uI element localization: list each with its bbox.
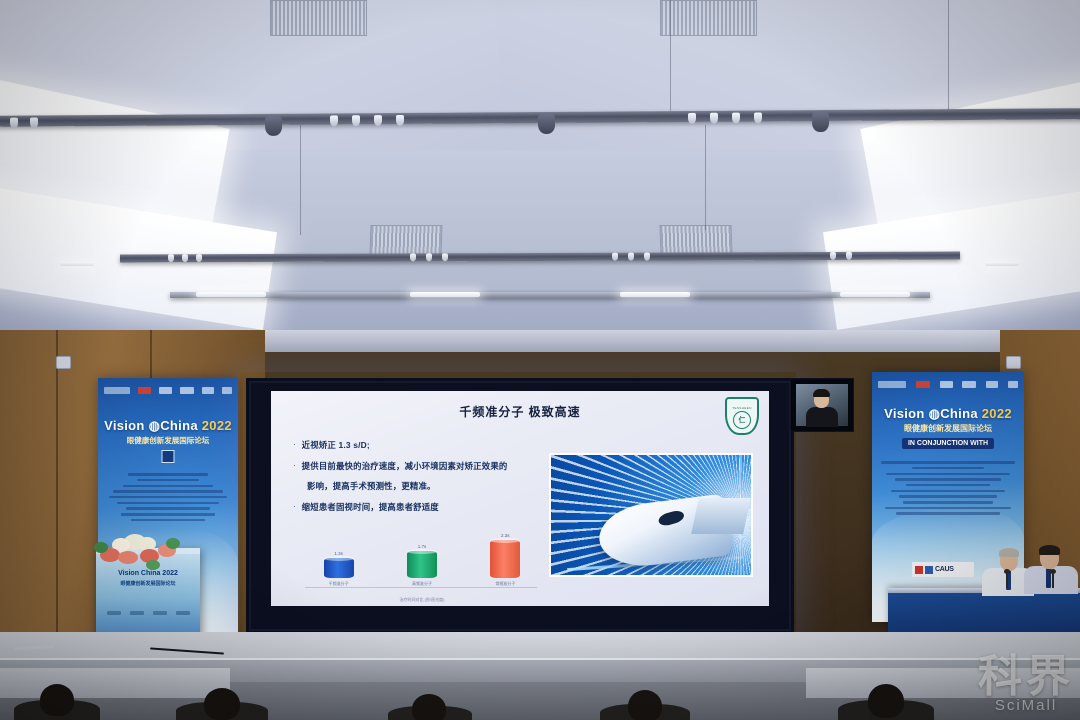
ceiling-light-strip bbox=[410, 292, 480, 297]
bullet-text: 影响，提高手术预测性，更精准。 bbox=[307, 480, 436, 494]
video-frame bbox=[796, 384, 848, 426]
spotlight-icon bbox=[644, 253, 650, 261]
ceiling-vent-icon bbox=[270, 0, 367, 36]
spotlight-icon bbox=[612, 253, 618, 261]
spotlight-icon bbox=[732, 113, 740, 124]
presentation-slide: 千频准分子 极致高速 TENSHEEN 仁 · 近视矫正 1.3 s/D; · … bbox=[271, 391, 769, 606]
ceiling-light-strip bbox=[60, 262, 94, 266]
ceiling-vent-icon bbox=[369, 225, 442, 255]
bar-group: 2.3s 常规准分子 bbox=[484, 533, 526, 587]
event-line bbox=[131, 519, 205, 522]
event-line bbox=[912, 467, 985, 470]
remote-speaker-feed[interactable] bbox=[790, 378, 854, 432]
chart-baseline bbox=[305, 587, 537, 588]
spotlight-icon bbox=[182, 254, 188, 262]
microphone-icon bbox=[1006, 572, 1008, 588]
sponsor-logo bbox=[1008, 381, 1018, 388]
banner-sponsor-logo-row bbox=[104, 383, 232, 397]
banner-right-brand: Vision ◍China 2022 bbox=[872, 406, 1024, 422]
podium-sponsor-row bbox=[102, 606, 194, 620]
brand-year: 2022 bbox=[202, 418, 232, 433]
podium-subtitle: 眼健康创新发展国际论坛 bbox=[96, 580, 200, 587]
bullet-text: 近视矫正 1.3 s/D; bbox=[302, 439, 370, 453]
sponsor-logo bbox=[153, 611, 167, 615]
brand-word-vision: Vision bbox=[104, 418, 145, 433]
bar-category-label: 千频准分子 bbox=[329, 581, 349, 587]
sponsor-logo bbox=[916, 381, 930, 388]
shield-icon: TENSHEEN 仁 bbox=[725, 397, 759, 435]
event-line bbox=[899, 495, 997, 498]
banner-qr-icon bbox=[162, 450, 175, 463]
stage-riser-right bbox=[806, 668, 1080, 698]
ceiling-light-strip bbox=[196, 292, 266, 297]
spotlight-icon bbox=[196, 254, 202, 262]
event-line bbox=[903, 501, 993, 504]
bullet-marker: · bbox=[293, 501, 296, 515]
audience-member bbox=[868, 684, 904, 718]
caus-text: CAUS bbox=[935, 566, 954, 573]
banner-left-subtitle: 眼健康创新发展国际论坛 bbox=[98, 435, 238, 446]
event-line bbox=[885, 507, 1011, 510]
sponsor-logo bbox=[878, 381, 906, 388]
train-windshield bbox=[657, 509, 686, 528]
spotlight-icon bbox=[710, 113, 718, 124]
brand-word-vision: Vision bbox=[884, 406, 925, 421]
audience-member bbox=[628, 690, 662, 720]
bar-orange bbox=[490, 540, 520, 578]
sponsor-logo bbox=[159, 387, 172, 394]
spotlight-icon bbox=[754, 112, 762, 123]
ceiling-vent-icon bbox=[660, 0, 757, 36]
spotlight-icon bbox=[265, 116, 282, 136]
microphone-icon bbox=[1052, 572, 1054, 588]
spotlight-icon bbox=[410, 253, 416, 261]
stage-riser-left bbox=[0, 668, 230, 698]
banner-left-brand: Vision ◍China 2022 bbox=[98, 418, 238, 434]
in-conjunction-with-badge: IN CONJUNCTION WITH bbox=[902, 438, 994, 449]
ceiling-cable bbox=[705, 125, 706, 230]
list-item: · 缩短患者固视时间，提高患者舒适度 bbox=[293, 501, 563, 515]
brand-year: 2022 bbox=[982, 406, 1012, 421]
spotlight-icon bbox=[10, 118, 18, 129]
sponsor-logo bbox=[962, 381, 976, 388]
spotlight-icon bbox=[30, 118, 38, 129]
event-line bbox=[896, 512, 1000, 515]
sponsor-caus-logo: CAUS bbox=[912, 562, 974, 577]
spotlight-icon bbox=[538, 114, 555, 134]
ceiling-cable bbox=[670, 0, 671, 112]
event-line bbox=[121, 513, 216, 516]
banner-sponsor-logo-row bbox=[878, 377, 1018, 391]
flower-arrangement-icon bbox=[94, 532, 186, 570]
banner-right-subtitle: 眼健康创新发展国际论坛 bbox=[872, 423, 1024, 434]
bar-category-label: 高频准分子 bbox=[412, 581, 432, 587]
lighting-truss-rail bbox=[170, 292, 930, 298]
list-item: · 提供目前最快的治疗速度，减小环境因素对矫正效果的 bbox=[293, 460, 563, 474]
event-line bbox=[128, 473, 207, 476]
chart-bars: 1.3s 千频准分子 1.7s 高频准分子 2.3s 常规准分子 bbox=[297, 535, 547, 587]
spotlight-icon bbox=[168, 254, 174, 262]
shield-brand-text: TENSHEEN bbox=[732, 406, 752, 410]
spotlight-icon bbox=[442, 253, 448, 261]
sponsor-logo bbox=[986, 381, 998, 388]
list-item: · 近视矫正 1.3 s/D; bbox=[293, 439, 563, 453]
bullet-text: 缩短患者固视时间，提高患者舒适度 bbox=[302, 501, 439, 515]
ceiling-cable bbox=[300, 125, 301, 235]
event-line bbox=[891, 490, 1006, 493]
speaker-torso bbox=[806, 407, 838, 427]
conference-photo-scene: Vision ◍China 2022 眼健康创新发展国际论坛 bbox=[0, 0, 1080, 720]
event-line bbox=[886, 473, 1009, 476]
bar-group: 1.3s 千频准分子 bbox=[318, 551, 360, 587]
event-line bbox=[126, 507, 210, 510]
caus-square-red bbox=[915, 566, 923, 574]
audience-member bbox=[412, 694, 446, 720]
bar-category-label: 常规准分子 bbox=[495, 581, 515, 587]
bullet-marker: · bbox=[293, 439, 296, 453]
sponsor-logo bbox=[104, 387, 130, 394]
spotlight-icon bbox=[330, 115, 338, 126]
spotlight-icon bbox=[830, 252, 836, 260]
spotlight-icon bbox=[688, 113, 696, 124]
list-item: 影响，提高手术预测性，更精准。 bbox=[293, 480, 563, 494]
surveillance-camera-icon bbox=[1006, 356, 1021, 369]
led-display-screen[interactable]: 千频准分子 极致高速 TENSHEEN 仁 · 近视矫正 1.3 s/D; · … bbox=[246, 378, 794, 634]
ceiling-light-strip bbox=[840, 292, 910, 297]
sponsor-logo bbox=[107, 611, 121, 615]
banner-right-event-list bbox=[878, 458, 1018, 518]
chart-caption: 治疗时间对比 (秒/屈光度) bbox=[297, 597, 547, 603]
banner-left-event-list bbox=[104, 470, 232, 524]
ceiling-light-strip bbox=[985, 262, 1019, 266]
ceiling-cable bbox=[948, 0, 949, 112]
train-carriage bbox=[691, 498, 751, 534]
caus-square-blue bbox=[925, 566, 933, 574]
slide-bullet-list: · 近视矫正 1.3 s/D; · 提供目前最快的治疗速度，减小环境因素对矫正效… bbox=[293, 439, 563, 521]
brand-word-china: China bbox=[940, 406, 978, 421]
event-line bbox=[109, 496, 227, 499]
bar-group: 1.7s 高频准分子 bbox=[401, 544, 443, 587]
treatment-time-bar-chart: 1.3s 千频准分子 1.7s 高频准分子 2.3s 常规准分子 bbox=[297, 531, 547, 603]
spotlight-icon bbox=[374, 115, 382, 126]
sponsor-logo bbox=[138, 387, 151, 394]
sponsor-logo bbox=[180, 387, 194, 394]
event-line bbox=[906, 484, 990, 487]
sponsor-logo bbox=[940, 381, 953, 388]
spotlight-icon bbox=[352, 115, 360, 126]
tensheen-shield-logo: TENSHEEN 仁 bbox=[725, 397, 757, 433]
high-speed-train-photo bbox=[549, 453, 753, 577]
sponsor-logo bbox=[222, 387, 232, 394]
spotlight-icon bbox=[628, 253, 634, 261]
bullet-text: 提供目前最快的治疗速度，减小环境因素对矫正效果的 bbox=[302, 460, 508, 474]
speaker-hair bbox=[813, 389, 830, 397]
event-line bbox=[881, 461, 1015, 464]
sponsor-logo bbox=[176, 611, 190, 615]
sponsor-logo bbox=[202, 387, 214, 394]
ceiling-vent-icon bbox=[659, 225, 732, 255]
ceiling-light-strip bbox=[620, 292, 690, 297]
bar-blue bbox=[324, 558, 354, 578]
event-line bbox=[117, 502, 219, 505]
event-line bbox=[137, 479, 198, 482]
spotlight-icon bbox=[812, 112, 829, 132]
spotlight-icon bbox=[426, 253, 432, 261]
slide-title: 千频准分子 极致高速 bbox=[271, 403, 769, 420]
shield-mark: 仁 bbox=[733, 411, 751, 429]
brand-word-china: China bbox=[160, 418, 198, 433]
surveillance-camera-icon bbox=[56, 356, 71, 369]
spotlight-icon bbox=[846, 252, 852, 260]
audience-member bbox=[40, 684, 74, 716]
bar-green bbox=[407, 551, 437, 578]
event-line bbox=[113, 490, 223, 493]
podium-brand: Vision China 2022 bbox=[96, 570, 200, 577]
audience-member bbox=[204, 688, 240, 720]
event-line bbox=[123, 485, 213, 488]
sponsor-logo bbox=[130, 611, 144, 615]
event-line bbox=[895, 478, 1001, 481]
ceiling bbox=[0, 0, 1080, 372]
spotlight-icon bbox=[396, 115, 404, 126]
wall-seam bbox=[56, 330, 58, 660]
bullet-marker: · bbox=[293, 460, 296, 474]
